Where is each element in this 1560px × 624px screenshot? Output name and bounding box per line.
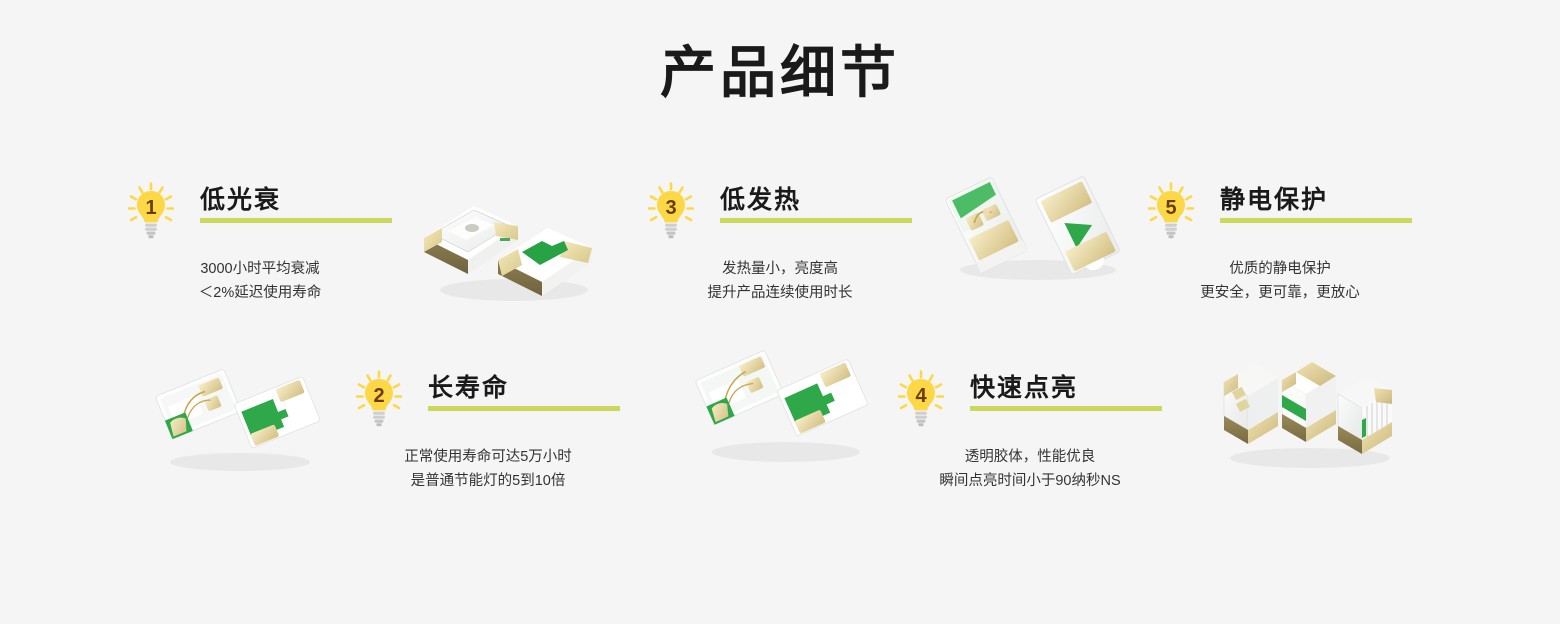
feature-desc-line-5b: 更安全，更可靠，更放心 (1148, 282, 1412, 306)
feature-title-2: 长寿命 (428, 368, 509, 404)
feature-desc-line-2b: 是普通节能灯的5到10倍 (356, 470, 620, 494)
feature-number-2: 2 (373, 385, 384, 407)
feature-divider-1 (200, 218, 392, 223)
lightbulb-icon: 5 (1148, 182, 1194, 240)
lightbulb-icon: 2 (356, 370, 402, 428)
product-image-4 (688, 348, 883, 468)
feature-divider-5 (1220, 218, 1412, 223)
product-detail-page: 产品细节 (0, 0, 1560, 624)
feature-desc-line-4b: 瞬间点亮时间小于90纳秒NS (898, 470, 1162, 494)
lightbulb-icon: 4 (898, 370, 944, 428)
feature-description-4: 透明胶体，性能优良 瞬间点亮时间小于90纳秒NS (898, 446, 1162, 494)
product-image-5 (1208, 352, 1413, 472)
lightbulb-icon: 3 (648, 182, 694, 240)
product-image-3 (148, 366, 333, 476)
feature-divider-2 (428, 406, 620, 411)
feature-title-3: 低发热 (720, 180, 801, 216)
product-image-2 (938, 162, 1138, 282)
feature-title-4: 快速点亮 (970, 368, 1078, 404)
page-title: 产品细节 (0, 42, 1560, 104)
feature-desc-line-3b: 提升产品连续使用时长 (648, 282, 912, 306)
feature-description-2: 正常使用寿命可达5万小时 是普通节能灯的5到10倍 (356, 446, 620, 494)
product-image-1 (418, 186, 618, 306)
feature-number-5: 5 (1165, 197, 1176, 219)
feature-number-4: 4 (915, 385, 927, 407)
feature-desc-line-3a: 发热量小，亮度高 (648, 258, 912, 282)
feature-number-3: 3 (665, 197, 676, 219)
feature-divider-3 (720, 218, 912, 223)
feature-description-1: 3000小时平均衰减 ＜2%延迟使用寿命 (128, 258, 392, 306)
feature-desc-line-2a: 正常使用寿命可达5万小时 (356, 446, 620, 470)
lightbulb-icon: 1 (128, 182, 174, 240)
feature-description-3: 发热量小，亮度高 提升产品连续使用时长 (648, 258, 912, 306)
feature-title-5: 静电保护 (1220, 180, 1328, 216)
feature-number-1: 1 (145, 197, 156, 219)
feature-desc-line-1a: 3000小时平均衰减 (128, 258, 392, 282)
feature-title-1: 低光衰 (200, 180, 281, 216)
feature-divider-4 (970, 406, 1162, 411)
feature-desc-line-4a: 透明胶体，性能优良 (898, 446, 1162, 470)
feature-desc-line-5a: 优质的静电保护 (1148, 258, 1412, 282)
feature-desc-line-1b: ＜2%延迟使用寿命 (128, 282, 392, 306)
feature-description-5: 优质的静电保护 更安全，更可靠，更放心 (1148, 258, 1412, 306)
